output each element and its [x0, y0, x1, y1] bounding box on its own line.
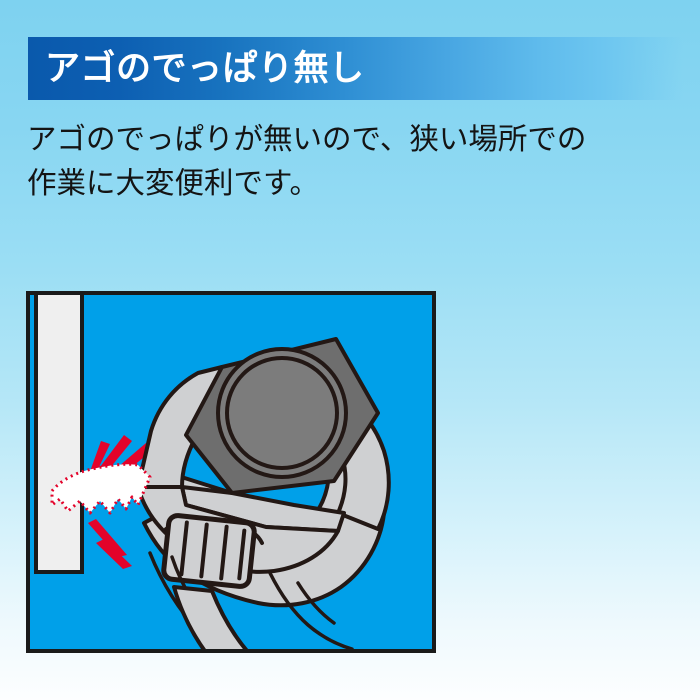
feature-description: アゴのでっぱりが無いので、狭い場所での 作業に大変便利です。 [27, 118, 667, 206]
product-feature-panel: アゴのでっぱり無し アゴのでっぱりが無いので、狭い場所での 作業に大変便利です。 [0, 0, 700, 700]
hex-nut-inner-ring [227, 358, 337, 468]
feature-title-text: アゴのでっぱり無し [45, 51, 365, 86]
wrench-illustration-svg [26, 291, 436, 653]
worm-gear-adjuster [163, 515, 255, 588]
feature-description-line-2: 作業に大変便利です。 [27, 162, 667, 206]
wall-surface [36, 291, 82, 572]
feature-title-banner: アゴのでっぱり無し [28, 37, 683, 100]
feature-description-line-1: アゴのでっぱりが無いので、狭い場所での [27, 118, 667, 162]
wrench-illustration [26, 291, 436, 653]
